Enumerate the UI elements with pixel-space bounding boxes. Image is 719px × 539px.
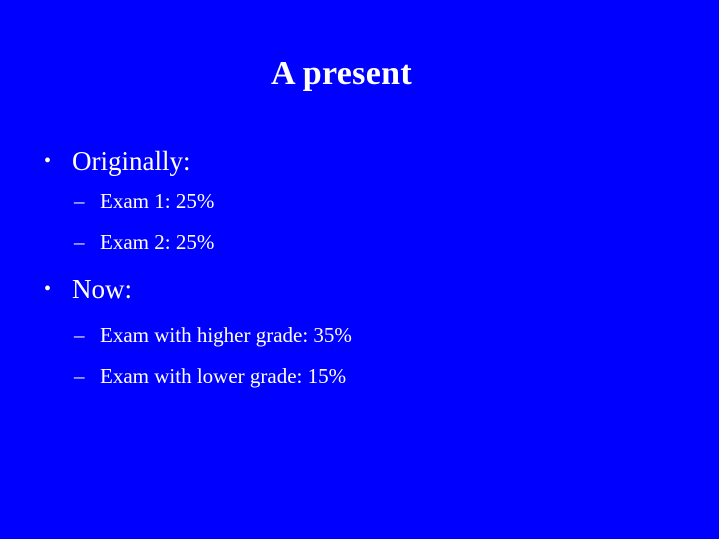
sub-bullet-item-label: Exam with lower grade: 15% [100,364,346,388]
bullet-group-now: • Now: – Exam with higher grade: 35% – E… [0,270,719,392]
bullet-group-originally: • Originally: – Exam 1: 25% – Exam 2: 25… [0,142,719,258]
sub-bullet-item-higher-grade: – Exam with higher grade: 35% [0,320,719,351]
sub-bullet-item-label: Exam with higher grade: 35% [100,323,352,347]
sub-bullet-item-lower-grade: – Exam with lower grade: 15% [0,361,719,392]
sub-bullet-list-now: – Exam with higher grade: 35% – Exam wit… [0,320,719,392]
page-title: A present [0,54,683,94]
bullet-item-originally: • Originally: [0,142,719,180]
dash-icon: – [74,361,94,392]
bullet-item-label: Originally: [72,146,190,176]
sub-bullet-item-exam-1: – Exam 1: 25% [0,186,719,217]
dash-icon: – [74,186,94,217]
sub-bullet-item-exam-2: – Exam 2: 25% [0,227,719,258]
slide-body: • Originally: – Exam 1: 25% – Exam 2: 25… [0,142,719,392]
bullet-item-label: Now: [72,274,132,304]
sub-bullet-item-label: Exam 2: 25% [100,230,214,254]
sub-bullet-list-originally: – Exam 1: 25% – Exam 2: 25% [0,186,719,258]
dash-icon: – [74,227,94,258]
bullet-dot-icon: • [44,270,62,308]
bullet-item-now: • Now: [0,270,719,308]
dash-icon: – [74,320,94,351]
bullet-dot-icon: • [44,142,62,180]
sub-bullet-item-label: Exam 1: 25% [100,189,214,213]
presentation-slide: A present • Originally: – Exam 1: 25% – … [0,0,719,539]
